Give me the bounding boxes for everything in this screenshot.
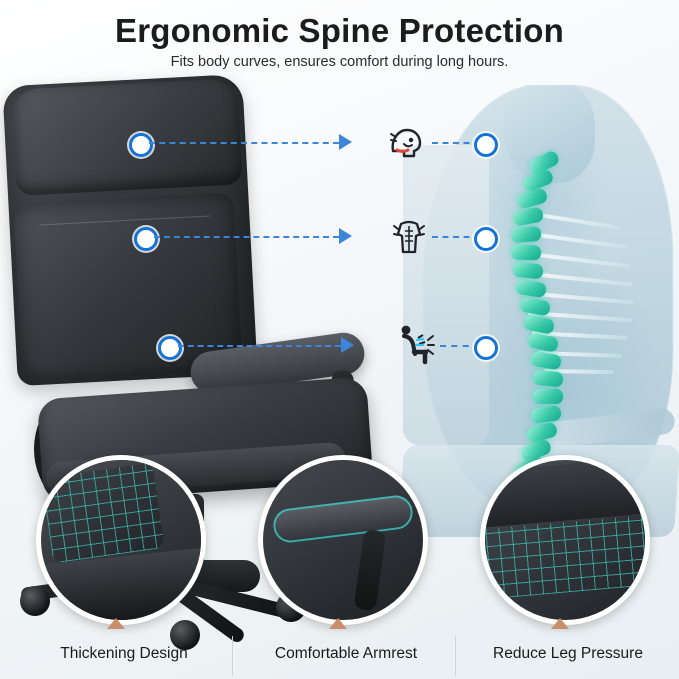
caption-divider bbox=[232, 636, 233, 676]
caption-arrow bbox=[329, 618, 347, 629]
caption-reduce-leg-pressure: Reduce Leg Pressure bbox=[462, 645, 674, 663]
callout-line-back-support bbox=[154, 236, 339, 238]
caption-arrow bbox=[551, 618, 569, 629]
page-subtitle: Fits body curves, ensures comfort during… bbox=[0, 54, 679, 70]
callout-marker-lumbar bbox=[158, 336, 182, 360]
callout-arrow-lumbar bbox=[341, 337, 354, 353]
callout-target-lumbar bbox=[474, 336, 498, 360]
callout-line-head-neck bbox=[149, 142, 339, 144]
callout-line-back-support-right bbox=[432, 236, 480, 238]
head-neck-support-icon bbox=[383, 120, 429, 166]
inset-comfortable-armrest bbox=[258, 455, 428, 625]
callout-line-head-neck-right bbox=[432, 142, 480, 144]
seated-lumbar-icon bbox=[392, 318, 438, 364]
cushion-thickness-highlight bbox=[42, 463, 165, 564]
page-title: Ergonomic Spine Protection bbox=[0, 12, 679, 50]
product-infographic: Ergonomic Spine Protection Fits body cur… bbox=[0, 0, 679, 679]
caption-divider bbox=[455, 636, 456, 676]
chair-headrest bbox=[11, 78, 242, 196]
back-support-icon bbox=[386, 212, 432, 258]
caption-comfortable-armrest: Comfortable Armrest bbox=[240, 645, 452, 663]
callout-marker-back-support bbox=[134, 227, 158, 251]
callout-target-back-support bbox=[474, 227, 498, 251]
seat-edge-highlight bbox=[480, 514, 650, 600]
inset-reduce-leg-pressure bbox=[480, 455, 650, 625]
callout-marker-head-neck bbox=[129, 133, 153, 157]
callout-target-head-neck bbox=[474, 133, 498, 157]
caption-thickening-design: Thickening Design bbox=[16, 645, 232, 663]
callout-arrow-head-neck bbox=[339, 134, 352, 150]
caption-arrow bbox=[107, 618, 125, 629]
callout-line-lumbar bbox=[178, 345, 341, 347]
callout-arrow-back-support bbox=[339, 228, 352, 244]
inset-thickening-design bbox=[36, 455, 206, 625]
